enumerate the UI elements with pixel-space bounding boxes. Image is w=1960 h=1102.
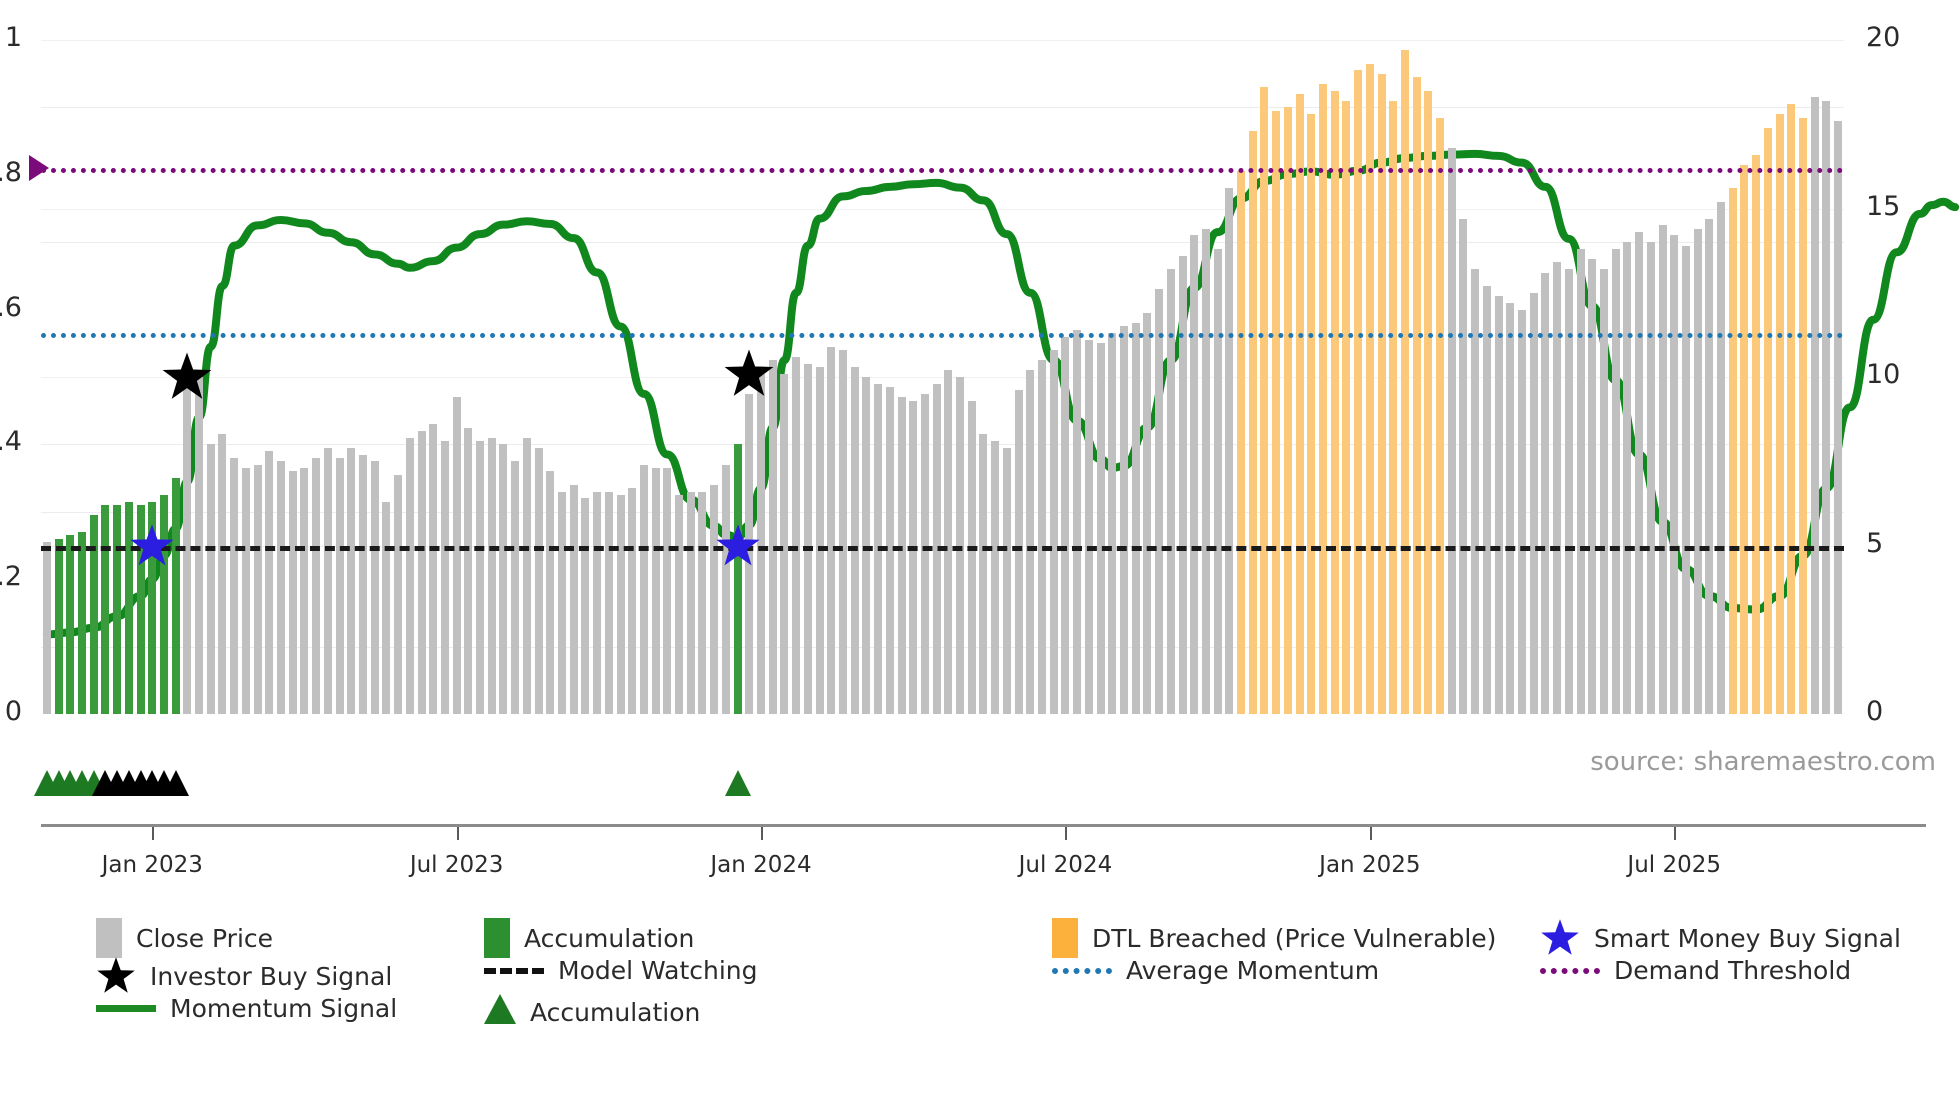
legend-item-momentum-signal[interactable]: Momentum Signal xyxy=(96,994,397,1023)
demand-threshold-line-icon xyxy=(1540,968,1600,974)
legend-label: Average Momentum xyxy=(1126,956,1379,985)
bar-dtl[interactable] xyxy=(1272,111,1280,714)
source-watermark: source: sharemaestro.com xyxy=(1590,747,1936,777)
bar-close[interactable] xyxy=(792,357,800,714)
bar-close[interactable] xyxy=(804,364,812,714)
bar-close[interactable] xyxy=(464,428,472,714)
investor-buy-star-icon xyxy=(96,956,136,996)
smart-money-star-icon xyxy=(1540,918,1580,958)
accumulation-triangle-green[interactable] xyxy=(725,770,751,796)
legend-label: Accumulation xyxy=(524,924,694,953)
x-axis-line xyxy=(41,824,1926,827)
bar-close[interactable] xyxy=(535,448,543,714)
bar-close[interactable] xyxy=(1577,249,1585,714)
bar-close[interactable] xyxy=(371,461,379,714)
smart-money-star-icon xyxy=(715,523,761,569)
bar-close[interactable] xyxy=(300,468,308,714)
bar-close[interactable] xyxy=(453,397,461,714)
smart-money-star-icon xyxy=(1540,918,1580,958)
bar-close[interactable] xyxy=(1085,340,1093,714)
bar-close[interactable] xyxy=(1612,249,1620,714)
bar-close[interactable] xyxy=(991,441,999,714)
bar-close[interactable] xyxy=(218,434,226,714)
bar-dtl[interactable] xyxy=(1424,91,1432,714)
accumulation-triangle-black[interactable] xyxy=(163,770,189,796)
bar-close[interactable] xyxy=(1026,370,1034,714)
bar-close[interactable] xyxy=(851,367,859,714)
bar-close[interactable] xyxy=(1495,296,1503,714)
bar-close[interactable] xyxy=(921,394,929,714)
legend-item-close-price[interactable]: Close Price xyxy=(96,918,273,958)
bar-close[interactable] xyxy=(418,431,426,714)
y-axis-left-tick-label: 0.6 xyxy=(0,292,22,323)
x-axis-tick-label: Jan 2025 xyxy=(1280,852,1460,878)
bar-close[interactable] xyxy=(581,498,589,714)
bar-close[interactable] xyxy=(1834,121,1842,714)
bar-close[interactable] xyxy=(1541,273,1549,714)
reference-line-average-momentum xyxy=(41,333,1844,338)
bar-close[interactable] xyxy=(1530,293,1538,714)
y-axis-left-tick-label: 0 xyxy=(0,696,22,727)
bar-dtl[interactable] xyxy=(1296,94,1304,714)
bar-close[interactable] xyxy=(1659,225,1667,714)
bar-accumulation[interactable] xyxy=(734,444,742,714)
bar-close[interactable] xyxy=(1108,333,1116,714)
legend-item-accumulation-triangle[interactable]: Accumulation xyxy=(484,994,700,1030)
bar-close[interactable] xyxy=(1506,303,1514,714)
bar-close[interactable] xyxy=(710,485,718,714)
momentum-signal-line-icon xyxy=(96,1005,156,1012)
bar-dtl[interactable] xyxy=(1249,131,1257,714)
bar-close[interactable] xyxy=(1717,202,1725,714)
accumulation-triangle-icon xyxy=(484,994,516,1030)
legend-item-dtl-breached[interactable]: DTL Breached (Price Vulnerable) xyxy=(1052,918,1496,958)
bar-close[interactable] xyxy=(1518,310,1526,714)
bar-close[interactable] xyxy=(1225,188,1233,714)
reference-line-model-watching xyxy=(41,546,1844,551)
bar-close[interactable] xyxy=(1015,390,1023,714)
bar-close[interactable] xyxy=(1682,246,1690,714)
bar-accumulation[interactable] xyxy=(172,478,180,714)
bar-close[interactable] xyxy=(265,451,273,714)
investor-buy-star-icon xyxy=(161,351,213,403)
bar-close[interactable] xyxy=(827,347,835,714)
y-axis-left-tick-label: 0.8 xyxy=(0,157,22,188)
demand-threshold-end-marker-icon xyxy=(29,155,49,181)
bar-close[interactable] xyxy=(1132,323,1140,714)
bar-close[interactable] xyxy=(687,492,695,714)
bar-close[interactable] xyxy=(968,401,976,714)
bar-dtl[interactable] xyxy=(1331,91,1339,714)
x-axis-tick xyxy=(1370,827,1372,840)
bar-close[interactable] xyxy=(617,495,625,714)
bar-close[interactable] xyxy=(1143,313,1151,714)
legend-row-3: Momentum Signal Accumulation xyxy=(0,994,1960,1032)
bar-dtl[interactable] xyxy=(1752,155,1760,714)
bar-close[interactable] xyxy=(1811,97,1819,714)
bar-close[interactable] xyxy=(523,438,531,714)
x-axis-tick-label: Jan 2024 xyxy=(671,852,851,878)
legend-label: Momentum Signal xyxy=(170,994,397,1023)
bar-close[interactable] xyxy=(394,475,402,714)
x-axis-tick-label: Jul 2025 xyxy=(1584,852,1764,878)
bar-dtl[interactable] xyxy=(1764,128,1772,714)
bar-close[interactable] xyxy=(640,465,648,714)
bar-close[interactable] xyxy=(663,468,671,714)
legend-item-investor-buy[interactable]: Investor Buy Signal xyxy=(96,956,392,996)
bar-close[interactable] xyxy=(1061,337,1069,714)
accumulation-swatch-icon xyxy=(484,918,510,958)
accumulation-triangle-icon xyxy=(484,994,516,1024)
bar-close[interactable] xyxy=(593,492,601,714)
y-axis-left-tick-label: 0.2 xyxy=(0,561,22,592)
bar-close[interactable] xyxy=(230,458,238,714)
bar-close[interactable] xyxy=(780,374,788,714)
bar-close[interactable] xyxy=(1202,229,1210,714)
smart-money-buy-signal-marker[interactable] xyxy=(715,523,761,569)
legend-item-accumulation-bar[interactable]: Accumulation xyxy=(484,918,694,958)
investor-buy-star-icon xyxy=(96,956,136,996)
legend-label: DTL Breached (Price Vulnerable) xyxy=(1092,924,1496,953)
bar-close[interactable] xyxy=(511,461,519,714)
y-axis-left-tick-label: 0.4 xyxy=(0,426,22,457)
bar-dtl[interactable] xyxy=(1237,171,1245,714)
bar-close[interactable] xyxy=(1073,330,1081,714)
bar-close[interactable] xyxy=(254,465,262,714)
legend-item-smart-money[interactable]: Smart Money Buy Signal xyxy=(1540,918,1901,958)
bar-close[interactable] xyxy=(1483,286,1491,714)
bar-close[interactable] xyxy=(698,492,706,714)
bar-close[interactable] xyxy=(183,370,191,714)
dtl-breached-swatch-icon xyxy=(1052,918,1078,958)
y-axis-right-tick-label: 0 xyxy=(1866,696,1936,727)
bar-close[interactable] xyxy=(382,502,390,714)
bar-close[interactable] xyxy=(336,458,344,714)
bar-close[interactable] xyxy=(1003,448,1011,714)
bar-dtl[interactable] xyxy=(1366,64,1374,714)
bar-close[interactable] xyxy=(570,485,578,714)
bar-close[interactable] xyxy=(1647,242,1655,714)
bar-dtl[interactable] xyxy=(1729,188,1737,714)
bar-close[interactable] xyxy=(359,455,367,714)
bar-close[interactable] xyxy=(1623,242,1631,714)
bar-accumulation[interactable] xyxy=(101,505,109,714)
smart-money-buy-signal-marker[interactable] xyxy=(129,523,175,569)
x-axis-tick xyxy=(1674,827,1676,840)
bar-accumulation[interactable] xyxy=(55,539,63,714)
bar-dtl[interactable] xyxy=(1401,50,1409,714)
x-axis-tick-label: Jul 2023 xyxy=(367,852,547,878)
legend-row-2: Investor Buy Signal Model Watching Avera… xyxy=(0,956,1960,994)
bar-dtl[interactable] xyxy=(1342,101,1350,714)
bar-close[interactable] xyxy=(1635,232,1643,714)
investor-buy-star-icon xyxy=(723,348,775,400)
bar-close[interactable] xyxy=(1448,148,1456,714)
bar-close[interactable] xyxy=(1822,101,1830,714)
close-price-swatch-icon xyxy=(96,918,122,958)
bar-close[interactable] xyxy=(1694,229,1702,714)
bar-close[interactable] xyxy=(441,441,449,714)
bar-close[interactable] xyxy=(429,424,437,714)
bar-close[interactable] xyxy=(1553,262,1561,714)
bar-close[interactable] xyxy=(1705,219,1713,714)
bar-close[interactable] xyxy=(1050,350,1058,714)
bar-close[interactable] xyxy=(242,468,250,714)
investor-buy-signal-marker[interactable] xyxy=(161,351,213,403)
bar-close[interactable] xyxy=(769,360,777,714)
x-axis-tick-label: Jul 2024 xyxy=(975,852,1155,878)
bar-close[interactable] xyxy=(886,387,894,714)
bar-close[interactable] xyxy=(312,458,320,714)
bar-close[interactable] xyxy=(1588,259,1596,714)
bar-dtl[interactable] xyxy=(1307,114,1315,714)
y-axis-right-tick-label: 10 xyxy=(1866,359,1936,390)
bar-accumulation[interactable] xyxy=(66,535,74,714)
bar-dtl[interactable] xyxy=(1284,107,1292,714)
x-axis-tick xyxy=(457,827,459,840)
bar-close[interactable] xyxy=(944,370,952,714)
legend-item-average-momentum[interactable]: Average Momentum xyxy=(1052,956,1379,985)
bar-close[interactable] xyxy=(1155,289,1163,714)
bar-close[interactable] xyxy=(1097,343,1105,714)
bar-dtl[interactable] xyxy=(1319,84,1327,714)
bar-accumulation[interactable] xyxy=(113,505,121,714)
bar-close[interactable] xyxy=(1214,249,1222,714)
x-axis-tick xyxy=(152,827,154,840)
x-axis-tick xyxy=(761,827,763,840)
bar-close[interactable] xyxy=(1038,360,1046,714)
bar-close[interactable] xyxy=(1179,256,1187,714)
legend-label: Close Price xyxy=(136,924,273,953)
bar-close[interactable] xyxy=(979,434,987,714)
investor-buy-signal-marker[interactable] xyxy=(723,348,775,400)
chart-root: 10.80.60.40.20 20151050 Jan 2023Jul 2023… xyxy=(0,0,1960,1102)
bar-close[interactable] xyxy=(1190,235,1198,714)
bar-close[interactable] xyxy=(476,441,484,714)
bar-dtl[interactable] xyxy=(1799,118,1807,714)
bar-close[interactable] xyxy=(816,367,824,714)
bar-close[interactable] xyxy=(839,350,847,714)
bar-close[interactable] xyxy=(406,438,414,714)
bar-dtl[interactable] xyxy=(1776,114,1784,714)
bar-close[interactable] xyxy=(499,444,507,714)
bar-close[interactable] xyxy=(722,465,730,714)
bar-close[interactable] xyxy=(675,495,683,714)
legend-label: Demand Threshold xyxy=(1614,956,1851,985)
smart-money-star-icon xyxy=(129,523,175,569)
bar-dtl[interactable] xyxy=(1260,87,1268,714)
legend-row-1: Close Price Accumulation DTL Breached (P… xyxy=(0,918,1960,956)
bar-close[interactable] xyxy=(43,542,51,714)
bar-close[interactable] xyxy=(558,492,566,714)
x-axis-tick xyxy=(1065,827,1067,840)
legend-label: Accumulation xyxy=(530,998,700,1027)
bar-close[interactable] xyxy=(324,448,332,714)
legend-item-model-watching[interactable]: Model Watching xyxy=(484,956,758,985)
y-axis-right-tick-label: 5 xyxy=(1866,528,1936,559)
plot-area xyxy=(41,40,1844,714)
y-axis-right-tick-label: 20 xyxy=(1866,22,1936,53)
bar-close[interactable] xyxy=(546,471,554,714)
bar-close[interactable] xyxy=(488,438,496,714)
bar-dtl[interactable] xyxy=(1354,70,1362,714)
bar-accumulation[interactable] xyxy=(78,532,86,714)
bar-close[interactable] xyxy=(605,492,613,714)
bar-dtl[interactable] xyxy=(1740,165,1748,714)
legend-item-demand-threshold[interactable]: Demand Threshold xyxy=(1540,956,1851,985)
chart-legend: Close Price Accumulation DTL Breached (P… xyxy=(0,918,1960,1032)
bar-close[interactable] xyxy=(289,471,297,714)
bar-close[interactable] xyxy=(1120,326,1128,714)
reference-line-demand-threshold xyxy=(41,168,1844,173)
legend-label: Investor Buy Signal xyxy=(150,962,392,991)
bar-close[interactable] xyxy=(909,401,917,714)
bar-close[interactable] xyxy=(1459,219,1467,714)
bar-dtl[interactable] xyxy=(1389,101,1397,714)
bar-series-close-price xyxy=(41,40,1844,714)
y-axis-left-tick-label: 1 xyxy=(0,22,22,53)
bar-close[interactable] xyxy=(628,488,636,714)
x-axis-tick-label: Jan 2023 xyxy=(62,852,242,878)
bar-dtl[interactable] xyxy=(1787,104,1795,714)
bar-close[interactable] xyxy=(347,448,355,714)
bar-close[interactable] xyxy=(652,468,660,714)
legend-label: Model Watching xyxy=(558,956,758,985)
bar-dtl[interactable] xyxy=(1436,118,1444,714)
bar-close[interactable] xyxy=(207,444,215,714)
legend-label: Smart Money Buy Signal xyxy=(1594,924,1901,953)
bar-close[interactable] xyxy=(898,397,906,714)
average-momentum-line-icon xyxy=(1052,968,1112,974)
model-watching-line-icon xyxy=(484,968,544,974)
bar-close[interactable] xyxy=(277,461,285,714)
bar-close[interactable] xyxy=(1670,235,1678,714)
